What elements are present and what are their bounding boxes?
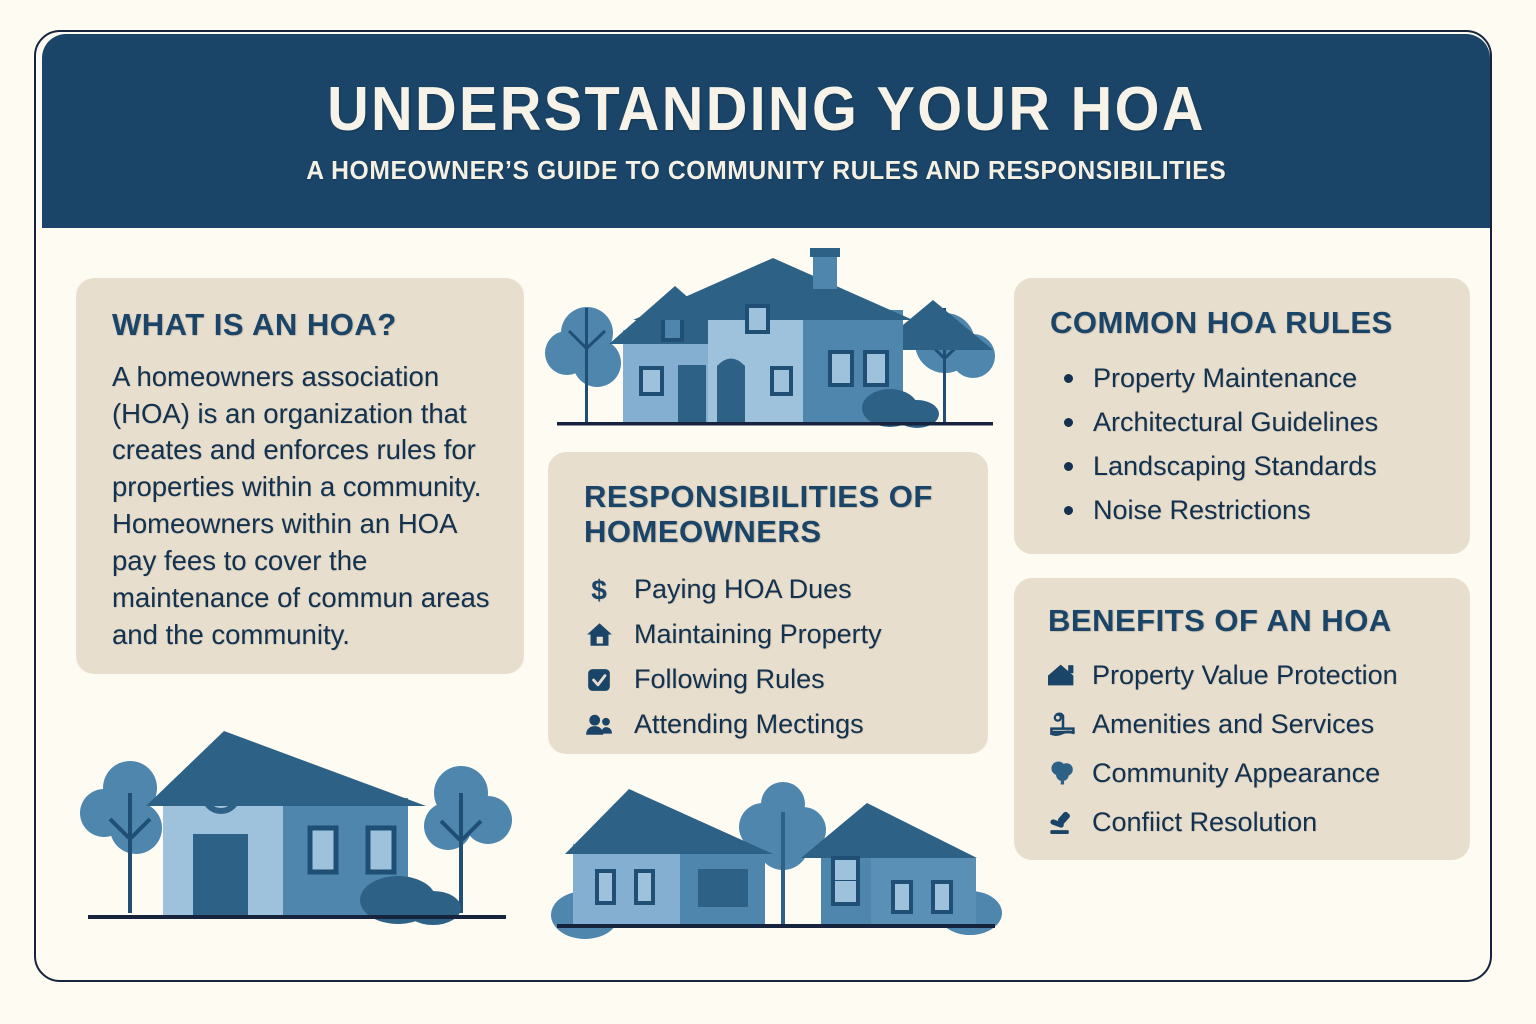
card-title: RESPONSIBILITIES OF HOMEOWNERS bbox=[584, 480, 988, 549]
infographic-poster: UNDERSTANDING YOUR HOA A HOMEOWNER’S GUI… bbox=[0, 0, 1536, 1024]
card-title: COMMON HOA RULES bbox=[1050, 306, 1470, 341]
window bbox=[636, 871, 653, 903]
gavel-icon bbox=[1048, 807, 1078, 837]
window bbox=[747, 306, 768, 332]
benefits-list: Property Value Protection Amenities and … bbox=[1048, 651, 1470, 847]
roof-shape bbox=[801, 803, 977, 858]
door bbox=[193, 834, 248, 916]
window-divider bbox=[833, 880, 858, 881]
list-item-label: Architectural Guidelines bbox=[1093, 407, 1378, 438]
page-subtitle: A HOMEOWNER’S GUIDE TO COMMUNITY RULES A… bbox=[306, 157, 1226, 183]
list-item[interactable]: Maintaining Property bbox=[584, 612, 988, 657]
window bbox=[663, 318, 682, 340]
bullet-dot-icon bbox=[1064, 506, 1073, 515]
window bbox=[933, 882, 951, 912]
dollar-sign-icon: $ bbox=[584, 575, 614, 605]
checkbox-check-icon bbox=[584, 665, 614, 695]
tree-icon bbox=[545, 307, 621, 423]
ground-line bbox=[557, 422, 993, 426]
two-houses-illustration bbox=[545, 772, 1007, 940]
card-body-text: A homeowners association (HOA) is an org… bbox=[112, 359, 494, 654]
list-item-label: Property Value Protection bbox=[1092, 660, 1398, 691]
list-item[interactable]: Amenities and Services bbox=[1048, 700, 1470, 749]
list-item-label: Landscaping Standards bbox=[1093, 451, 1377, 482]
pool-amenity-icon bbox=[1048, 709, 1078, 739]
bullet-dot-icon bbox=[1064, 418, 1073, 427]
window bbox=[893, 882, 911, 912]
list-item[interactable]: Following Rules bbox=[584, 657, 988, 702]
card-title: WHAT IS AN HOA? bbox=[112, 308, 494, 343]
tree-icon bbox=[1048, 758, 1078, 788]
list-item[interactable]: Attending Mectings bbox=[584, 702, 988, 747]
door bbox=[678, 365, 706, 423]
list-item-label: Community Appearance bbox=[1092, 758, 1380, 789]
window bbox=[641, 368, 662, 394]
list-item-label: Confiict Resolution bbox=[1092, 807, 1317, 838]
list-item-label: Attending Mectings bbox=[634, 709, 864, 740]
list-item-label: Following Rules bbox=[634, 664, 825, 695]
list-item[interactable]: Landscaping Standards bbox=[1050, 445, 1470, 489]
bullet-dot-icon bbox=[1064, 374, 1073, 383]
svg-text:$: $ bbox=[591, 576, 607, 604]
list-item[interactable]: Confiict Resolution bbox=[1048, 798, 1470, 847]
door bbox=[717, 359, 745, 424]
list-item-label: Paying HOA Dues bbox=[634, 574, 852, 605]
card-responsibilities: RESPONSIBILITIES OF HOMEOWNERS $ Paying … bbox=[548, 452, 988, 754]
window bbox=[597, 871, 614, 903]
window bbox=[865, 352, 887, 385]
list-item[interactable]: $ Paying HOA Dues bbox=[584, 567, 988, 612]
single-house-illustration bbox=[78, 728, 514, 936]
common-rules-list: Property Maintenance Architectural Guide… bbox=[1050, 357, 1470, 533]
list-item-label: Maintaining Property bbox=[634, 619, 882, 650]
house-chimney-icon bbox=[1048, 660, 1078, 690]
house-icon bbox=[584, 620, 614, 650]
window bbox=[310, 828, 336, 872]
ground-line bbox=[557, 924, 995, 928]
chimney-cap bbox=[810, 248, 840, 257]
list-item-label: Amenities and Services bbox=[1092, 709, 1374, 740]
house-body bbox=[871, 858, 976, 925]
list-item[interactable]: Noise Restrictions bbox=[1050, 489, 1470, 533]
neighborhood-houses-illustration bbox=[545, 248, 1005, 448]
card-what-is-an-hoa: WHAT IS AN HOA? A homeowners association… bbox=[76, 278, 524, 674]
list-item[interactable]: Architectural Guidelines bbox=[1050, 401, 1470, 445]
list-item-label: Property Maintenance bbox=[1093, 363, 1357, 394]
roof-shape bbox=[146, 731, 426, 806]
card-title: BENEFITS OF AN HOA bbox=[1048, 604, 1470, 639]
list-item-label: Noise Restrictions bbox=[1093, 495, 1311, 526]
window bbox=[830, 352, 852, 385]
list-item[interactable]: Property Value Protection bbox=[1048, 651, 1470, 700]
tree-icon bbox=[424, 766, 512, 913]
responsibilities-list: $ Paying HOA Dues Maintaining Property F… bbox=[584, 567, 988, 747]
bullet-dot-icon bbox=[1064, 462, 1073, 471]
list-item[interactable]: Property Maintenance bbox=[1050, 357, 1470, 401]
window bbox=[772, 368, 791, 394]
ground-line bbox=[88, 915, 506, 919]
page-title: UNDERSTANDING YOUR HOA bbox=[327, 79, 1206, 141]
poster-header: UNDERSTANDING YOUR HOA A HOMEOWNER’S GUI… bbox=[42, 34, 1490, 228]
list-item[interactable]: Community Appearance bbox=[1048, 749, 1470, 798]
house-body bbox=[573, 844, 680, 925]
garage-door bbox=[698, 869, 748, 907]
window bbox=[368, 828, 394, 872]
people-group-icon bbox=[584, 710, 614, 740]
tree-icon bbox=[80, 761, 162, 913]
card-benefits-of-an-hoa: BENEFITS OF AN HOA Property Value Protec… bbox=[1014, 578, 1470, 860]
card-common-hoa-rules: COMMON HOA RULES Property Maintenance Ar… bbox=[1014, 278, 1470, 554]
